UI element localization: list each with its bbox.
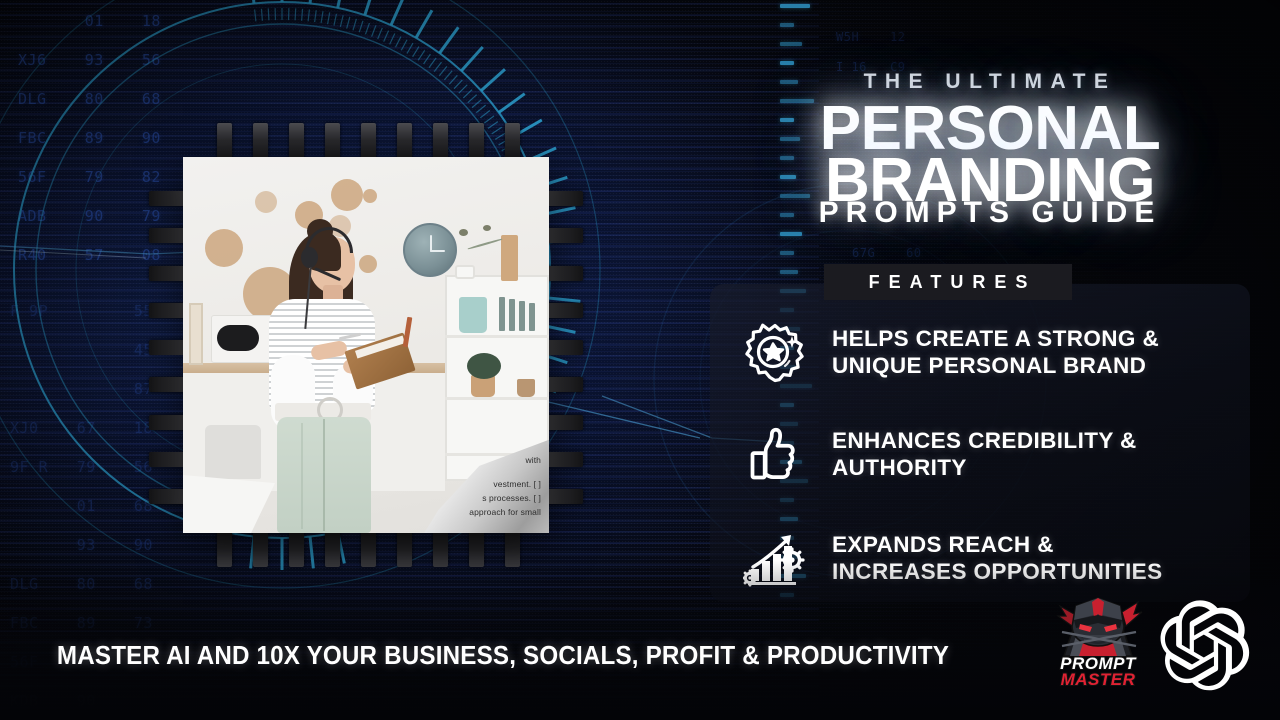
feature-2-line-1: ENHANCES CREDIBILITY & xyxy=(832,428,1137,455)
headset-earcup-icon xyxy=(301,247,318,268)
chip-pin xyxy=(543,266,583,281)
chip-pin xyxy=(543,340,583,355)
chip-framed-photo: with vestment. [ ] s processes. [ ] appr… xyxy=(183,157,549,533)
chip-pin xyxy=(543,489,583,504)
chip-pin xyxy=(543,415,583,430)
subtitle-text: PROMPTS GUIDE xyxy=(700,196,1280,230)
tick-mark xyxy=(780,270,798,274)
feature-2-line-2: AUTHORITY xyxy=(832,455,1137,482)
tick-mark xyxy=(780,61,794,65)
feature-item-2: ENHANCES CREDIBILITY & AUTHORITY xyxy=(738,418,1248,492)
kicker-text: THE ULTIMATE xyxy=(700,70,1280,94)
prompt-master-word-bottom: MASTER xyxy=(1046,670,1150,690)
ninja-mascot-icon xyxy=(1046,596,1150,658)
chip-pin xyxy=(543,191,583,206)
feature-item-1: HELPS CREATE A STRONG & UNIQUE PERSONAL … xyxy=(738,316,1248,390)
wall-clock-icon xyxy=(403,223,457,277)
prompt-master-logo: PROMPT MASTER xyxy=(1046,596,1150,696)
feature-text-2: ENHANCES CREDIBILITY & AUTHORITY xyxy=(832,428,1137,481)
features-section-header: FEATURES xyxy=(824,264,1072,300)
feature-1-line-2: UNIQUE PERSONAL BRAND xyxy=(832,353,1159,380)
tick-mark xyxy=(780,42,802,46)
feature-text-1: HELPS CREATE A STRONG & UNIQUE PERSONAL … xyxy=(832,326,1159,379)
features-label: FEATURES xyxy=(860,272,1037,293)
feature-3-line-1: EXPANDS REACH & xyxy=(832,532,1163,559)
chip-pin xyxy=(543,303,583,318)
openai-logo-icon xyxy=(1158,600,1250,692)
chip-pin xyxy=(543,452,583,467)
thumbs-up-icon xyxy=(738,418,812,492)
tick-mark xyxy=(780,251,794,255)
tick-mark xyxy=(780,4,810,8)
tick-mark xyxy=(780,23,794,27)
tick-mark xyxy=(780,232,802,236)
star-badge-sparkle-icon xyxy=(738,316,812,390)
tagline-text: MASTER AI AND 10X YOUR BUSINESS, SOCIALS… xyxy=(35,640,971,671)
photo-woman-with-headset: with vestment. [ ] s processes. [ ] appr… xyxy=(183,157,549,533)
chip-pin xyxy=(543,228,583,243)
poster-canvas: 01 18 XJ6 93 56 DLG 80 68 FBC 89 90 56F … xyxy=(0,0,1280,720)
feature-1-line-1: HELPS CREATE A STRONG & xyxy=(832,326,1159,353)
chip-pin xyxy=(543,377,583,392)
